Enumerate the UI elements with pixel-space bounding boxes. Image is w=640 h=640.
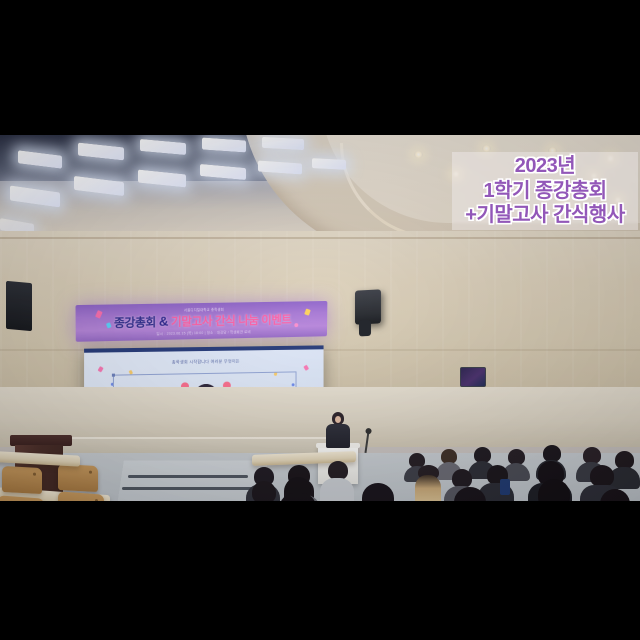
audience-head <box>538 479 570 501</box>
presenter <box>322 412 354 450</box>
led-banner: 서울디지털대학교 총학생회 종강총회 & 기말고사 간식 나눔 이벤트 일시 :… <box>75 301 327 342</box>
audience-head <box>362 483 394 501</box>
caption-line-1: 2023년 <box>515 154 575 178</box>
ceiling-downlight <box>414 151 423 158</box>
banner-subtitle-bottom: 일시 : 2023.06.15 (목) 18:00 | 장소 : 대강당 / 학… <box>156 329 250 336</box>
floor-tactile-strip <box>122 487 254 490</box>
audience-member <box>520 479 586 501</box>
banner-main-text: 종강총회 & 기말고사 간식 나눔 이벤트 <box>114 311 292 330</box>
banner-part1: 종강총회 <box>114 317 156 330</box>
caption-line-3: +기말고사 간식행사 <box>465 203 624 227</box>
letterboxed-frame: 서울디지털대학교 총학생회 종강총회 & 기말고사 간식 나눔 이벤트 일시 :… <box>0 0 640 640</box>
caption-line-2: 1학기 종강총회 <box>483 179 606 203</box>
ceiling-panel-light <box>262 137 304 150</box>
slide-confetti <box>98 366 104 372</box>
caption-overlay: 2023년 1학기 종강총회 +기말고사 간식행사 <box>452 152 638 230</box>
audience-member <box>586 489 640 501</box>
audience-member-grey-shirt <box>434 487 508 501</box>
audience-head <box>590 465 614 487</box>
banner-part2: 기말고사 간식 나눔 이벤트 <box>171 314 291 328</box>
slide-confetti <box>303 365 309 371</box>
presenter-body <box>326 424 350 448</box>
wall-seam <box>0 237 640 239</box>
ceiling-projector <box>355 289 381 324</box>
projector-lens <box>359 320 371 337</box>
empty-chair-back <box>2 466 42 494</box>
ceiling-panel-light <box>312 158 346 170</box>
slide-eyebrow-text: 총학생회 시작합니다 여러분 무엇이든 <box>84 357 323 367</box>
wall-mounted-display <box>460 367 486 387</box>
banner-subtitle-top: 서울디지털대학교 총학생회 <box>184 307 224 313</box>
empty-chair-back <box>58 464 98 492</box>
audience-member-white-shirt <box>340 483 416 501</box>
audience-head <box>454 487 486 501</box>
floor-tactile-strip <box>128 475 248 478</box>
ceiling-downlight <box>482 145 491 152</box>
audience-member-long-hair <box>272 477 324 501</box>
banner-ampersand: & <box>159 314 168 329</box>
wall-speaker-left <box>6 281 32 331</box>
presenter-face <box>335 416 341 423</box>
audience-head <box>600 489 630 501</box>
